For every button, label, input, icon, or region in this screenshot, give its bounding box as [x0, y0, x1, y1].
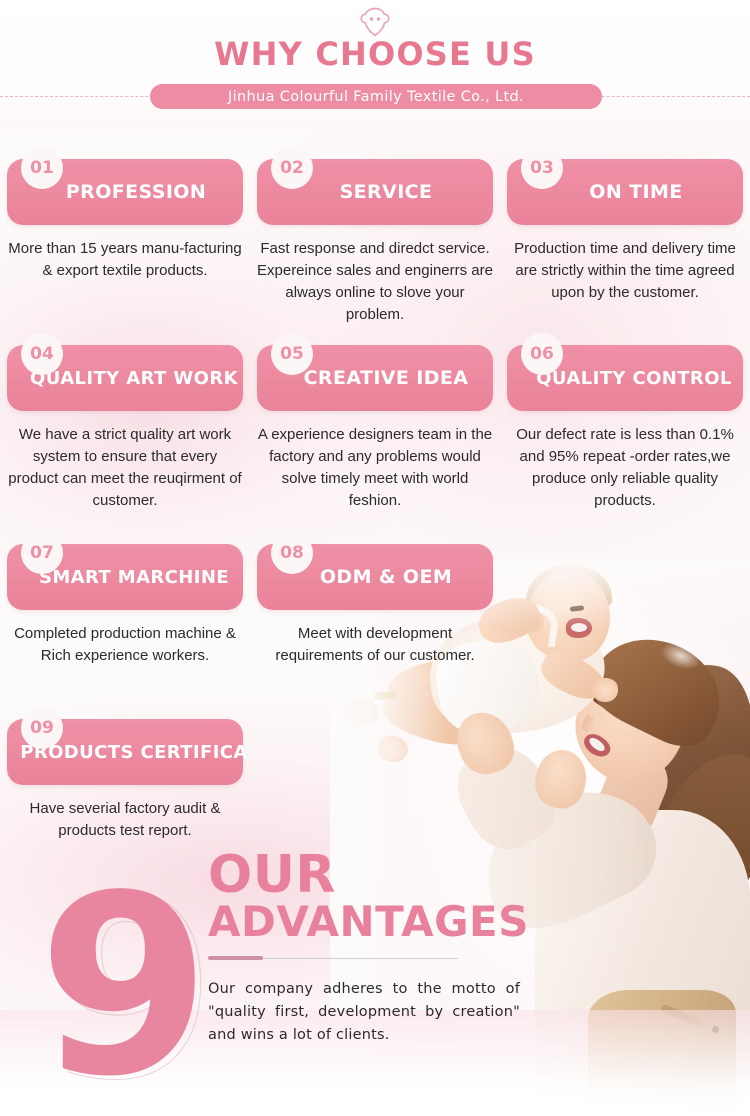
feature-description: Completed production machine & Rich expe… [7, 623, 243, 667]
mother-eye [592, 696, 613, 712]
feature-card-header: 01 PROFESSION [7, 159, 243, 225]
mother-hair-front [580, 618, 737, 758]
feature-title: CREATIVE IDEA [282, 367, 469, 389]
feature-number-badge: 08 [271, 532, 313, 574]
mother-forearm [442, 729, 568, 862]
feature-title: ODM & OEM [298, 566, 452, 588]
feature-card-header: 09 PRODUCTS CERTIFICA [7, 719, 243, 785]
page-header: WHY CHOOSE US Jinhua Colourful Family Te… [0, 0, 750, 130]
our-advantages-section: 9 9 OUR ADVANTAGES Our company adheres t… [0, 845, 750, 1116]
baby-onesie-strap [503, 601, 560, 648]
baby-teeth [571, 623, 587, 632]
feature-card-header: 08 ODM & OEM [257, 544, 493, 610]
feature-title: SERVICE [318, 181, 433, 203]
feature-description: A experience designers team in the facto… [257, 424, 493, 512]
company-name-badge: Jinhua Colourful Family Textile Co., Ltd… [150, 84, 602, 109]
baby-hair [526, 564, 612, 612]
feature-card-08[interactable]: 08 ODM & OEM Meet with development requi… [257, 544, 493, 667]
baby-foot-right [375, 733, 410, 765]
feature-description: Have severial factory audit & products t… [7, 798, 243, 842]
mother-face [555, 637, 713, 802]
mother-ear [643, 707, 675, 742]
baby-head [526, 570, 610, 662]
mother-neck [587, 742, 676, 848]
advantages-divider-accent [208, 956, 263, 960]
feature-description: More than 15 years manu-facturing & expo… [7, 238, 243, 282]
feature-card-03[interactable]: 03 ON TIME Production time and delivery … [507, 159, 743, 304]
feature-card-04[interactable]: 04 QUALITY ART WORK We have a strict qua… [7, 345, 243, 512]
feature-description: We have a strict quality art work system… [7, 424, 243, 512]
feature-title: ON TIME [567, 181, 682, 203]
feature-card-header: 02 SERVICE [257, 159, 493, 225]
advantages-heading-line2: ADVANTAGES [208, 901, 529, 943]
feature-description: Meet with development requirements of ou… [257, 623, 493, 667]
advantages-body-text: Our company adheres to the motto of "qua… [208, 978, 520, 1048]
feature-description: Our defect rate is less than 0.1% and 95… [507, 424, 743, 512]
feature-card-header: 07 SMART MARCHINE [7, 544, 243, 610]
baby-hand-right [592, 678, 618, 702]
feature-number-badge: 01 [21, 147, 63, 189]
mother-mouth [580, 729, 614, 761]
baby-lower-leg [378, 685, 486, 753]
advantages-heading-line1: OUR [208, 849, 336, 901]
baby-foot-left [342, 698, 379, 728]
feature-number-badge: 03 [521, 147, 563, 189]
feature-number-badge: 02 [271, 147, 313, 189]
feature-card-09[interactable]: 09 PRODUCTS CERTIFICA Have severial fact… [7, 719, 243, 842]
feature-card-01[interactable]: 01 PROFESSION More than 15 years manu-fa… [7, 159, 243, 282]
feature-card-header: 03 ON TIME [507, 159, 743, 225]
feature-number-badge: 05 [271, 333, 313, 375]
page-title: WHY CHOOSE US [0, 38, 750, 70]
baby-mouth [566, 618, 592, 638]
feature-card-07[interactable]: 07 SMART MARCHINE Completed production m… [7, 544, 243, 667]
mother-hand-right [530, 745, 593, 813]
feature-number-badge: 09 [21, 707, 63, 749]
baby-ear [526, 610, 544, 632]
feature-card-06[interactable]: 06 QUALITY CONTROL Our defect rate is le… [507, 345, 743, 512]
feature-number-badge: 04 [21, 333, 63, 375]
baby-arm-right [535, 645, 610, 706]
baby-cheek [562, 622, 588, 640]
why-choose-us-page: WHY CHOOSE US Jinhua Colourful Family Te… [0, 0, 750, 1116]
mother-hand-left [449, 705, 521, 782]
mother-hair-highlight [657, 638, 705, 675]
mother-teeth [587, 735, 607, 753]
feature-number-badge: 07 [21, 532, 63, 574]
big-number-nine: 9 [38, 891, 211, 1084]
feature-card-header: 05 CREATIVE IDEA [257, 345, 493, 411]
feature-description: Production time and delivery time are st… [507, 238, 743, 304]
feature-card-header: 04 QUALITY ART WORK [7, 345, 243, 411]
feature-card-02[interactable]: 02 SERVICE Fast response and diredct ser… [257, 159, 493, 326]
baby-anklet [374, 691, 397, 700]
feature-description: Fast response and diredct service. Exper… [257, 238, 493, 326]
baby-eye [570, 605, 584, 611]
mother-nose [580, 714, 598, 734]
mother-eyebrow [593, 681, 617, 700]
feature-card-header: 06 QUALITY CONTROL [507, 345, 743, 411]
feature-card-05[interactable]: 05 CREATIVE IDEA A experience designers … [257, 345, 493, 512]
feature-title: PROFESSION [44, 181, 206, 203]
feature-number-badge: 06 [521, 333, 563, 375]
